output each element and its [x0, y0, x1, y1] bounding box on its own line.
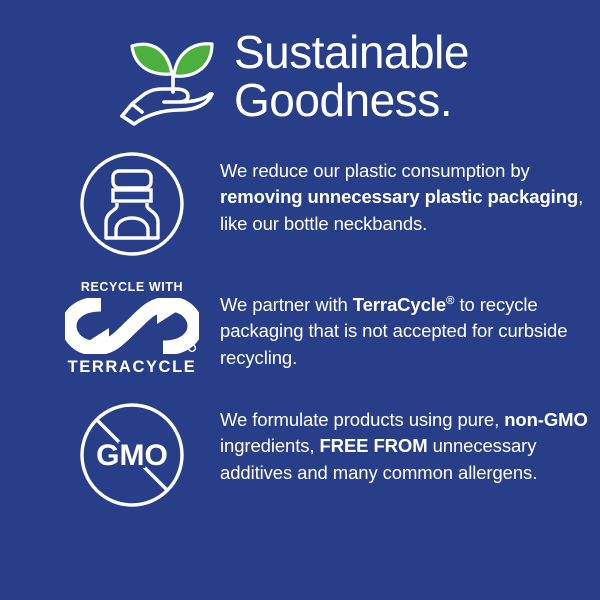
page-title: Sustainable Goodness.: [234, 27, 469, 125]
feature-row-plastic-reduction: We reduce our plastic consumption by rem…: [0, 148, 600, 260]
feature-row-terracycle: RECYCLE WITH TERRACYCLE We partner wit: [0, 280, 600, 377]
terracycle-bottom-label: TERRACYCLE: [68, 358, 197, 377]
text-part: We reduce our plastic consumption by: [220, 160, 530, 181]
terracycle-top-label: RECYCLE WITH: [81, 280, 183, 294]
gmo-label: GMO: [96, 439, 168, 472]
feature-text-terracycle: We partner with TerraCycle® to recycle p…: [220, 280, 600, 371]
feature-text-non-gmo: We formulate products using pure, non-GM…: [220, 399, 600, 486]
feature-list: We reduce our plastic consumption by rem…: [0, 148, 600, 511]
feature-icon-cell: [44, 148, 220, 260]
no-gmo-icon: GMO: [76, 399, 188, 511]
feature-row-non-gmo: GMO We formulate products using pure, no…: [0, 399, 600, 511]
feature-text-plastic-reduction: We reduce our plastic consumption by rem…: [220, 148, 600, 237]
hand-holding-sprout-icon: [118, 30, 218, 126]
text-part: We partner with: [220, 294, 353, 315]
bottle-in-circle-icon: [76, 148, 188, 260]
terracycle-word: TerraCycle: [353, 294, 446, 315]
text-part-bold: FREE FROM: [319, 435, 427, 456]
text-part-bold: non-GMO: [504, 409, 588, 430]
infinity-loop-arrows-icon: [65, 298, 199, 354]
feature-icon-cell: RECYCLE WITH TERRACYCLE: [44, 280, 220, 377]
text-part: We formulate products using pure,: [220, 409, 504, 430]
text-part-bold: TerraCycle®: [353, 294, 455, 315]
page-header: Sustainable Goodness.: [0, 0, 600, 126]
text-part-bold: removing unnecessary plastic packaging: [220, 186, 578, 207]
text-part: ingredients,: [220, 435, 319, 456]
feature-icon-cell: GMO: [44, 399, 220, 511]
terracycle-logo: RECYCLE WITH TERRACYCLE: [44, 280, 220, 377]
